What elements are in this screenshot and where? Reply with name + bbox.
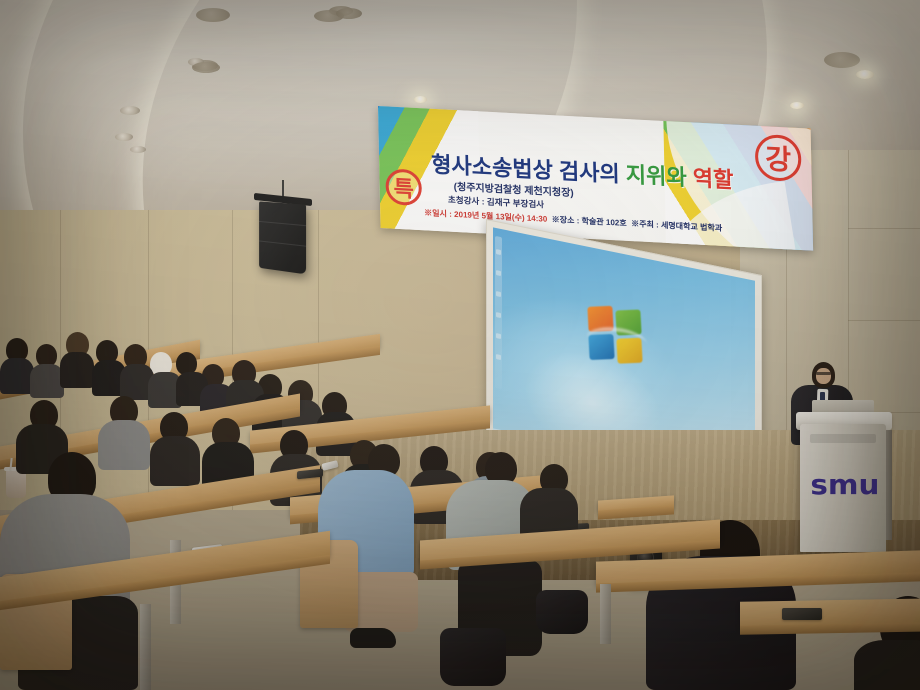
- banner-title-part3: 역할: [693, 165, 734, 192]
- backpack-1: [440, 628, 506, 686]
- desk-leg-2: [140, 604, 151, 690]
- podium: smu: [800, 424, 886, 552]
- ceiling-vent-1: [196, 8, 230, 22]
- windows-flag-logo: [587, 301, 645, 371]
- presenter-face: [816, 368, 831, 384]
- ceiling-vent-6: [336, 8, 362, 19]
- audience-body-c2: [98, 420, 150, 470]
- right-wall-seam-h1: [848, 228, 920, 229]
- ceiling-downlight-8: [790, 102, 804, 109]
- event-banner: 특 강 형사소송법상 검사의 지위와 역할 (청주지방검찰청 제천지청장) 초청…: [378, 106, 813, 251]
- ceiling-downlight-3: [130, 146, 146, 153]
- desktop-icon-1: [496, 249, 501, 255]
- audience-body-c3: [150, 436, 200, 486]
- desktop-icon-4: [496, 312, 501, 318]
- desktop-icon-2: [496, 270, 501, 276]
- desk-leg-3: [600, 584, 611, 644]
- desktop-icon-3: [496, 291, 501, 297]
- audience-body-b1: [0, 358, 34, 394]
- ceiling-downlight-2: [115, 133, 133, 141]
- podium-smu-logo: smu: [810, 468, 879, 501]
- coffee-cup: [6, 470, 26, 498]
- audience-body-b2: [30, 364, 64, 398]
- shoe-f2: [350, 628, 396, 648]
- ceiling-vent-4: [192, 62, 220, 73]
- audience-body-f5: [854, 640, 920, 690]
- desktop-icon-5: [496, 333, 501, 339]
- desk-row-front-4: [740, 598, 920, 627]
- presenter-glasses: [816, 372, 831, 375]
- podium-side-stand: [886, 430, 892, 540]
- ceiling-pa-speaker: [259, 201, 306, 274]
- ceiling-downlight-4: [120, 106, 140, 115]
- backpack-2: [536, 590, 588, 634]
- desktop-icon-6: [496, 354, 501, 360]
- lecture-hall-photo: 특 강 형사소송법상 검사의 지위와 역할 (청주지방검찰청 제천지청장) 초청…: [0, 0, 920, 690]
- ceiling-vent-7: [824, 52, 860, 68]
- ceiling-downlight-5: [414, 96, 427, 103]
- ceiling-downlight-7: [856, 70, 874, 79]
- right-wall-seam-h2: [848, 320, 920, 321]
- podium-recess: [810, 434, 876, 443]
- banner-title-part2: 지위와: [626, 162, 693, 191]
- banner-detail-place: ※장소 : 학술관 102호: [552, 215, 627, 228]
- phone-on-desk-5: [782, 608, 822, 620]
- audience-body-b3: [60, 352, 94, 388]
